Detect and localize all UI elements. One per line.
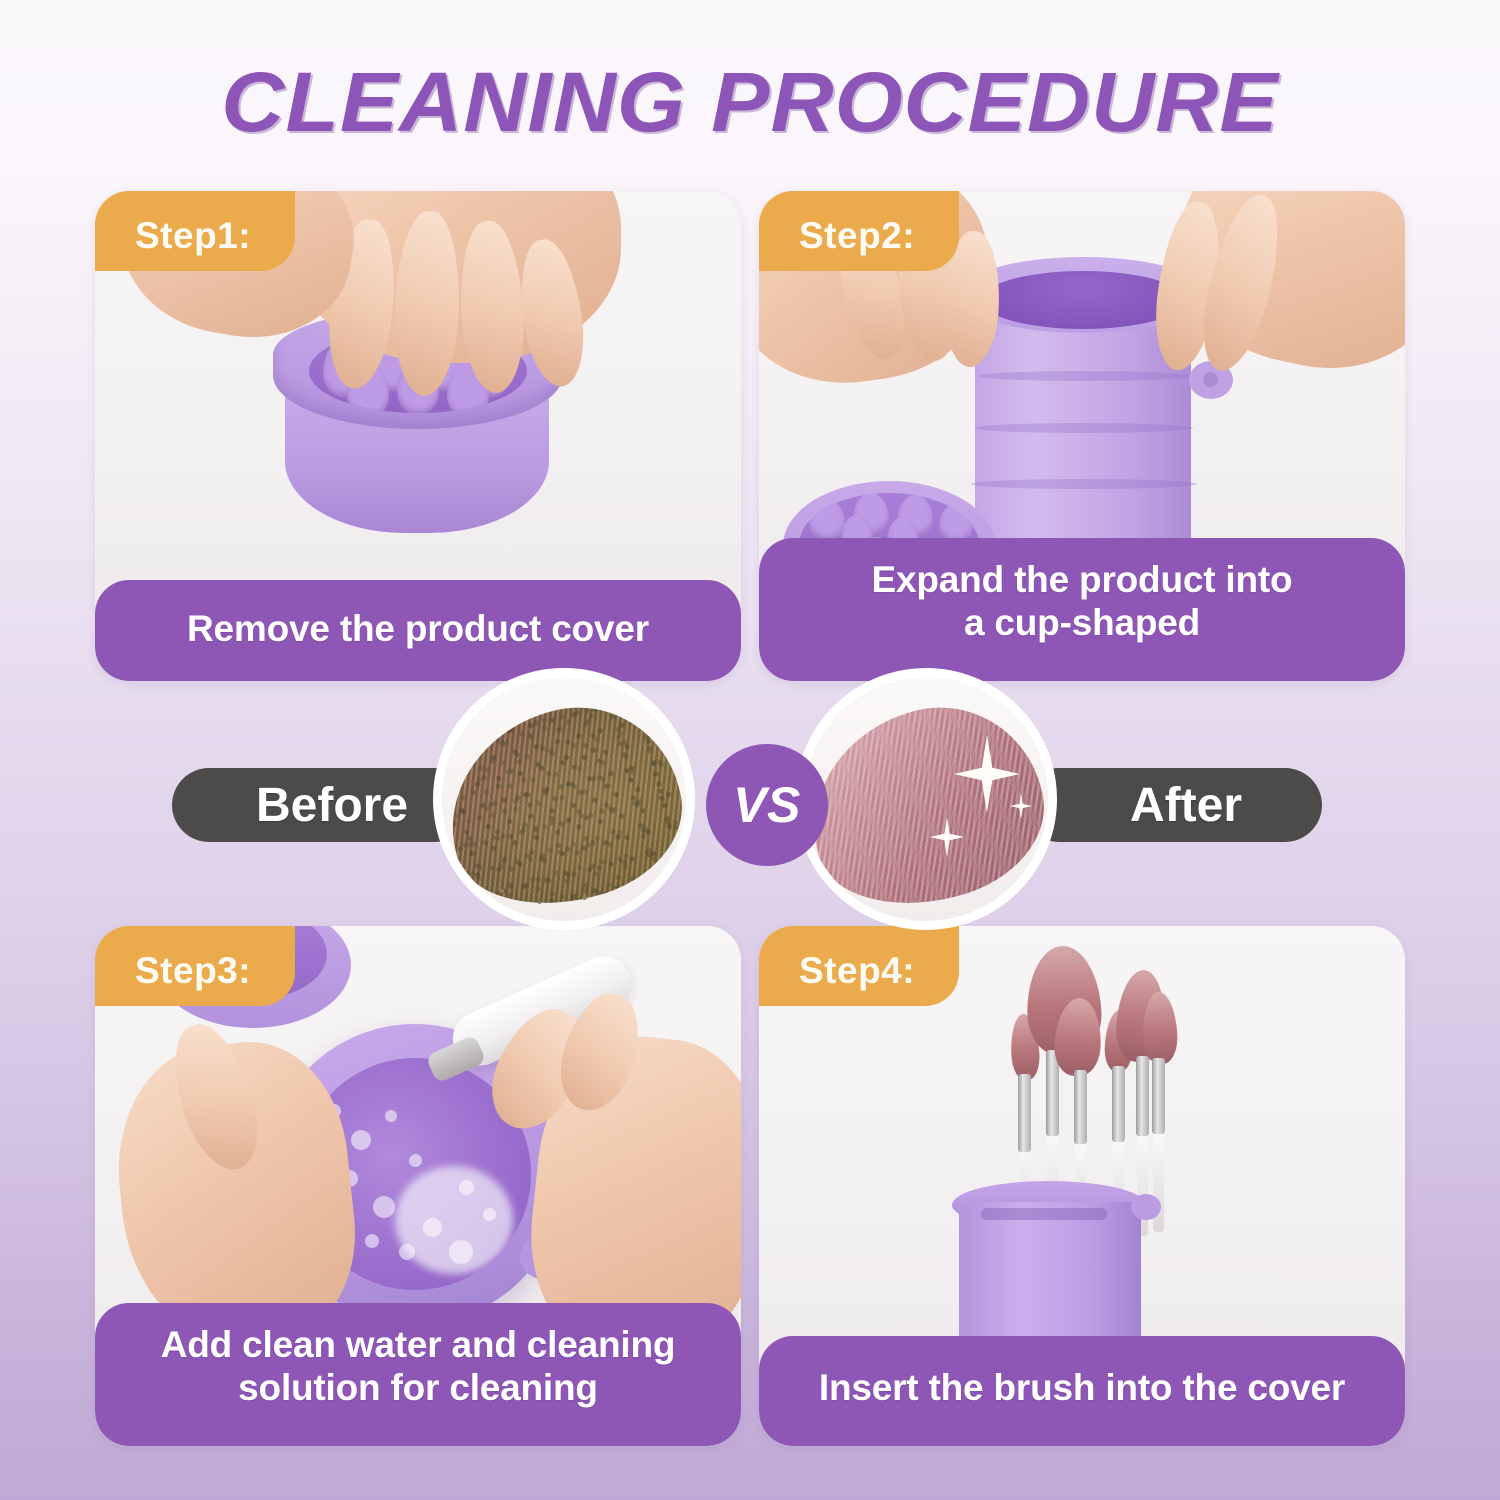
step2-caption-line2: a cup-shaped [783, 601, 1381, 644]
after-image-circle [795, 668, 1057, 930]
step-card-1: Step1: Remove the product cover [95, 191, 741, 681]
brush-ferrule-6 [1152, 1058, 1165, 1134]
foam-patch [395, 1166, 513, 1274]
powder-speck [582, 895, 587, 900]
brush-ferrule-3 [1074, 1070, 1087, 1144]
step2-caption-line1: Expand the product into [783, 558, 1381, 601]
cup-hook-hole [1203, 372, 1218, 387]
step3-caption: Add clean water and cleaning solution fo… [95, 1303, 741, 1446]
step4-caption-line1: Insert the brush into the cover [819, 1367, 1345, 1408]
step2-badge: Step2: [759, 202, 959, 271]
step3-badge: Step3: [95, 937, 295, 1006]
step-card-4: Step4: Insert the brush into the cover [759, 926, 1405, 1446]
page-title: CLEANING PROCEDURE [0, 54, 1500, 151]
step1-caption: Remove the product cover [95, 580, 741, 681]
step3-caption-line1: Add clean water and cleaning [119, 1323, 717, 1366]
holder-slot [981, 1208, 1107, 1220]
step1-caption-line1: Remove the product cover [187, 608, 649, 649]
brush-ferrule-4 [1112, 1066, 1125, 1142]
brush-ferrule-5 [1136, 1056, 1149, 1136]
step4-caption: Insert the brush into the cover [759, 1336, 1405, 1446]
before-label: Before [256, 778, 408, 833]
holder-hook [1131, 1194, 1161, 1220]
step-card-3: Step3: Add clean water and cleaning solu… [95, 926, 741, 1446]
after-label-pill: After [1022, 768, 1322, 842]
powder-speck [614, 883, 617, 886]
step1-badge: Step1: [95, 202, 295, 271]
step2-caption: Expand the product into a cup-shaped [759, 538, 1405, 681]
vs-badge: VS [706, 744, 828, 866]
before-image-circle [433, 668, 695, 930]
step4-badge: Step4: [759, 937, 959, 1006]
after-label: After [1130, 778, 1242, 833]
powder-speck [500, 889, 504, 893]
powder-speck [538, 901, 541, 904]
vs-label: VS [733, 776, 801, 834]
before-label-pill: Before [172, 768, 472, 842]
infographic-poster: CLEANING PROCEDURE [0, 0, 1500, 1500]
cup-interior [981, 271, 1185, 329]
step3-caption-line2: solution for cleaning [119, 1366, 717, 1409]
brush-ferrule-1 [1018, 1074, 1031, 1152]
step-card-2: Step2: Expand the product into a cup-sha… [759, 191, 1405, 681]
